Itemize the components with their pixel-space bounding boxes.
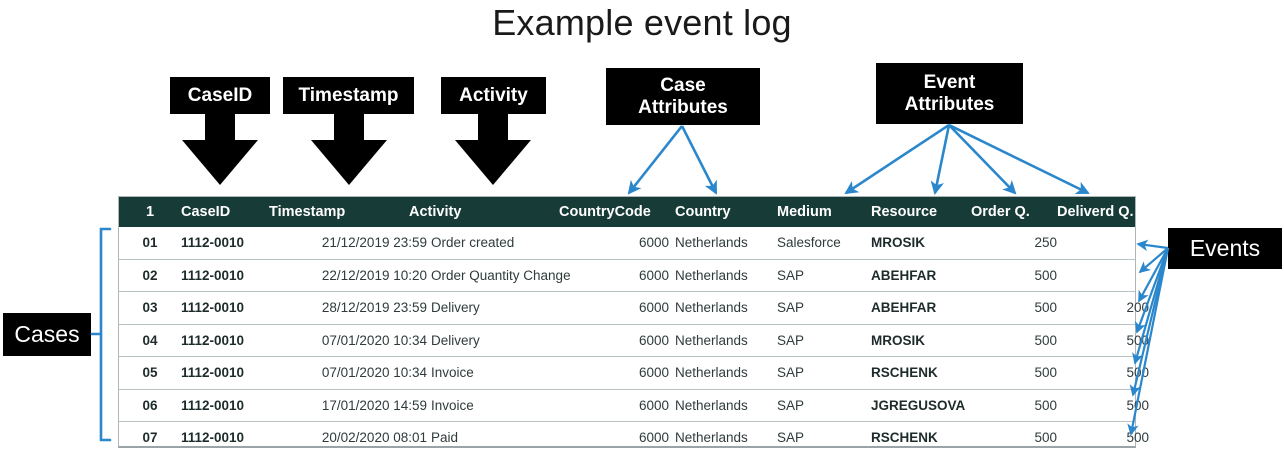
cell-country: Netherlands — [675, 390, 785, 422]
column-header-order-q[interactable]: Order Q. — [971, 197, 1049, 227]
arrow-head — [182, 140, 258, 185]
cell-timestamp: 28/12/2019 23:59 — [269, 292, 427, 324]
cell-country: Netherlands — [675, 260, 785, 292]
callout-case-attributes-line2: Attributes — [638, 97, 728, 118]
callout-cases: Cases — [3, 313, 91, 356]
cell-caseid: 1112-0010 — [181, 422, 273, 454]
table-row[interactable]: 011112-001021/12/2019 23:59Order created… — [119, 227, 1135, 259]
column-header-timestamp[interactable]: Timestamp — [269, 197, 379, 227]
table-row[interactable]: 051112-001007/01/2020 10:34Invoice6000Ne… — [119, 356, 1135, 389]
cell-resource: MROSIK — [871, 227, 995, 259]
callout-case-attributes-line1: Case — [638, 75, 728, 96]
cell-countrycode: 6000 — [559, 390, 669, 422]
cell-timestamp: 07/01/2020 10:34 — [269, 357, 427, 389]
cell-delivered_q: 500 — [1069, 325, 1149, 357]
cell-countrycode: 6000 — [559, 292, 669, 324]
cell-caseid: 1112-0010 — [181, 325, 273, 357]
cell-countrycode: 6000 — [559, 357, 669, 389]
callout-activity: Activity — [441, 77, 546, 114]
cell-countrycode: 6000 — [559, 227, 669, 259]
cell-timestamp: 21/12/2019 23:59 — [269, 227, 427, 259]
cell-country: Netherlands — [675, 325, 785, 357]
cell-medium: SAP — [777, 292, 869, 324]
cell-medium: Salesforce — [777, 227, 869, 259]
cell-order_q: 250 — [979, 227, 1057, 259]
cell-resource: RSCHENK — [871, 422, 995, 454]
event-attribute-arrows — [846, 125, 1088, 193]
cell-medium: SAP — [777, 325, 869, 357]
page-title: Example event log — [0, 2, 1284, 44]
cell-countrycode: 6000 — [559, 260, 669, 292]
cell-index: 02 — [133, 260, 167, 292]
callout-event-attributes: Event Attributes — [876, 63, 1023, 124]
column-header-delivered-q[interactable]: Deliverd Q. — [1057, 197, 1157, 227]
table-row[interactable]: 021112-001022/12/2019 10:20Order Quantit… — [119, 259, 1135, 292]
cell-delivered_q: 500 — [1069, 390, 1149, 422]
cell-delivered_q — [1069, 260, 1149, 292]
cell-index: 03 — [133, 292, 167, 324]
cell-caseid: 1112-0010 — [181, 292, 273, 324]
cell-timestamp: 20/02/2020 08:01 — [269, 422, 427, 454]
cell-resource: ABEHFAR — [871, 292, 995, 324]
column-header-medium[interactable]: Medium — [777, 197, 869, 227]
cell-medium: SAP — [777, 422, 869, 454]
callout-events: Events — [1168, 228, 1282, 269]
cell-timestamp: 07/01/2020 10:34 — [269, 325, 427, 357]
cell-index: 06 — [133, 390, 167, 422]
cell-order_q: 500 — [979, 390, 1057, 422]
table-row[interactable]: 041112-001007/01/2020 10:34Delivery6000N… — [119, 324, 1135, 357]
cell-country: Netherlands — [675, 292, 785, 324]
arrow-head — [455, 140, 531, 185]
case-attribute-arrows — [629, 126, 716, 193]
cell-caseid: 1112-0010 — [181, 390, 273, 422]
callout-timestamp: Timestamp — [283, 77, 414, 114]
cell-resource: JGREGUSOVA — [871, 390, 995, 422]
cell-index: 01 — [133, 227, 167, 259]
cell-medium: SAP — [777, 357, 869, 389]
cell-order_q: 500 — [979, 260, 1057, 292]
cell-caseid: 1112-0010 — [181, 260, 273, 292]
table-header-row: 1 CaseID Timestamp Activity CountryCode … — [119, 197, 1135, 227]
cases-bracket — [92, 229, 110, 440]
cell-order_q: 500 — [979, 292, 1057, 324]
cell-country: Netherlands — [675, 357, 785, 389]
cell-order_q: 500 — [979, 422, 1057, 454]
table-row[interactable]: 061112-001017/01/2020 14:59Invoice6000Ne… — [119, 389, 1135, 422]
column-header-caseid[interactable]: CaseID — [181, 197, 273, 227]
table-row[interactable]: 071112-001020/02/2020 08:01Paid6000Nethe… — [119, 421, 1135, 454]
cell-order_q: 500 — [979, 325, 1057, 357]
column-header-index[interactable]: 1 — [133, 197, 167, 227]
arrow-stem — [205, 113, 235, 141]
caseid-down-arrow-icon — [181, 113, 259, 185]
cell-resource: MROSIK — [871, 325, 995, 357]
cell-delivered_q: 500 — [1069, 422, 1149, 454]
arrow-stem — [334, 113, 364, 141]
cell-country: Netherlands — [675, 227, 785, 259]
callout-event-attributes-line2: Attributes — [905, 94, 995, 115]
cell-resource: RSCHENK — [871, 357, 995, 389]
cell-index: 05 — [133, 357, 167, 389]
column-header-country[interactable]: Country — [675, 197, 785, 227]
cell-caseid: 1112-0010 — [181, 227, 273, 259]
cell-delivered_q — [1069, 227, 1149, 259]
column-header-countrycode[interactable]: CountryCode — [559, 197, 669, 227]
timestamp-down-arrow-icon — [310, 113, 388, 185]
cell-resource: ABEHFAR — [871, 260, 995, 292]
table-row[interactable]: 031112-001028/12/2019 23:59Delivery6000N… — [119, 291, 1135, 324]
activity-down-arrow-icon — [454, 113, 532, 185]
cell-country: Netherlands — [675, 422, 785, 454]
arrow-stem — [478, 113, 508, 141]
event-log-table: 1 CaseID Timestamp Activity CountryCode … — [118, 196, 1136, 448]
cell-medium: SAP — [777, 390, 869, 422]
cell-index: 07 — [133, 422, 167, 454]
table-body: 011112-001021/12/2019 23:59Order created… — [119, 227, 1135, 454]
cell-countrycode: 6000 — [559, 422, 669, 454]
cell-delivered_q: 200 — [1069, 292, 1149, 324]
callout-case-attributes: Case Attributes — [606, 68, 760, 125]
cell-caseid: 1112-0010 — [181, 357, 273, 389]
column-header-activity[interactable]: Activity — [409, 197, 509, 227]
cell-timestamp: 22/12/2019 10:20 — [269, 260, 427, 292]
callout-caseid: CaseID — [170, 77, 270, 114]
cell-delivered_q: 500 — [1069, 357, 1149, 389]
cell-timestamp: 17/01/2020 14:59 — [269, 390, 427, 422]
callout-event-attributes-line1: Event — [905, 72, 995, 93]
arrow-head — [311, 140, 387, 185]
cell-medium: SAP — [777, 260, 869, 292]
cell-index: 04 — [133, 325, 167, 357]
cell-order_q: 500 — [979, 357, 1057, 389]
cell-countrycode: 6000 — [559, 325, 669, 357]
